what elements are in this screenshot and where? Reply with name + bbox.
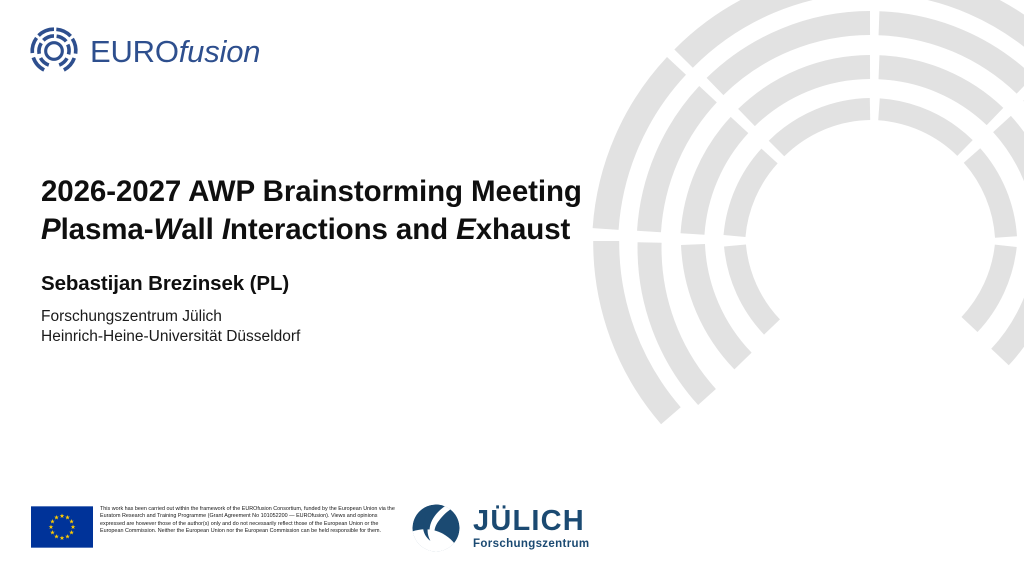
title-line-2-rendered: Plasma-Wall Interactions and Exhaust: [41, 213, 570, 246]
juelich-text: JÜLICH Forschungszentrum: [473, 506, 590, 551]
eurofusion-wordmark: EUROfusion: [90, 36, 260, 67]
eurofusion-word-fusion: fusion: [179, 34, 261, 69]
eurofusion-word-euro: EURO: [90, 34, 179, 69]
title-line-2: Plasma-Wall Interactions and Exhaust: [41, 211, 641, 249]
author-name: Sebastijan Brezinsek (PL): [41, 270, 601, 298]
author-affiliation-2: Heinrich-Heine-Universität Düsseldorf: [41, 327, 601, 347]
title-line-1: 2026-2027 AWP Brainstorming Meeting: [41, 173, 641, 211]
eurofusion-mark-icon: [28, 25, 80, 77]
juelich-name: JÜLICH: [473, 506, 590, 536]
juelich-logo: JÜLICH Forschungszentrum: [408, 500, 590, 556]
author-block: Sebastijan Brezinsek (PL) Forschungszent…: [41, 270, 601, 347]
title-block: 2026-2027 AWP Brainstorming Meeting Plas…: [41, 173, 641, 249]
juelich-subtitle: Forschungszentrum: [473, 537, 590, 551]
juelich-swirl-icon: [408, 500, 464, 556]
slide-footer: This work has been carried out within th…: [31, 500, 601, 562]
author-affiliation-1: Forschungszentrum Jülich: [41, 307, 601, 327]
presentation-slide: EUROfusion 2026-2027 AWP Brainstorming M…: [0, 0, 1024, 576]
european-union-flag-icon: [31, 506, 93, 548]
eurofusion-logo: EUROfusion: [28, 24, 260, 78]
funding-disclaimer: This work has been carried out within th…: [100, 506, 400, 535]
eurofusion-ring-watermark: [570, 0, 1024, 545]
